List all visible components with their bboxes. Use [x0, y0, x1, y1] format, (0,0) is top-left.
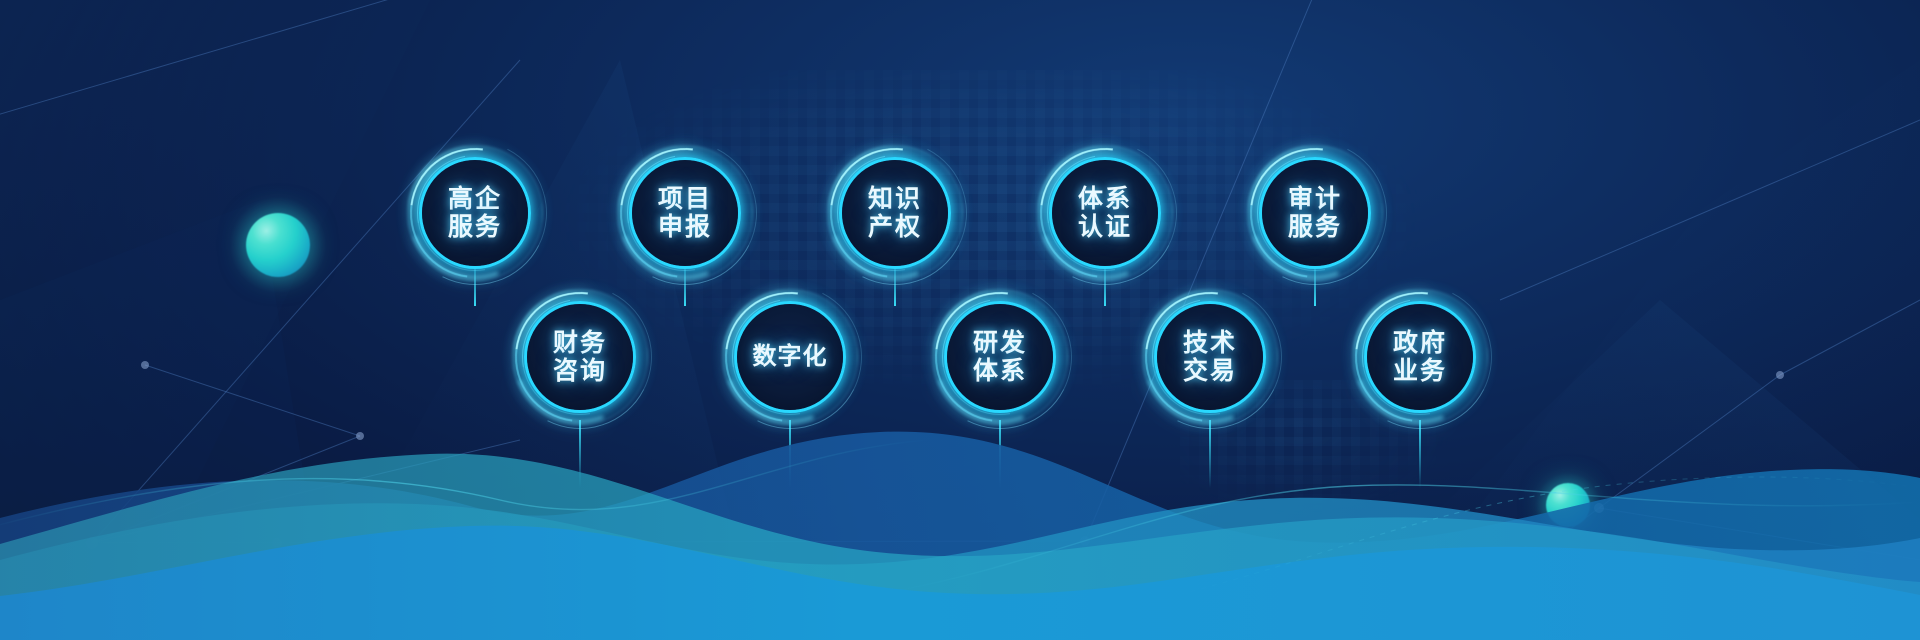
bubble-label-line2: 交易 [1183, 358, 1237, 385]
sphere-decoration-left [246, 213, 310, 277]
bubble-label: 高企 服务 [419, 157, 531, 269]
bubble-label: 研发 体系 [944, 301, 1056, 413]
bubble-label: 财务 咨询 [524, 301, 636, 413]
bubble-label: 数字化 [734, 301, 846, 413]
bubble-label: 审计 服务 [1259, 157, 1371, 269]
bubble-label-line1: 知识 [868, 186, 922, 213]
bubble-label-line1: 项目 [658, 186, 712, 213]
bubble-label-line1: 政府 [1393, 330, 1447, 357]
wave-decoration [0, 410, 1920, 640]
service-bubble-xiangmu-shenbao[interactable]: 项目 申报 [629, 157, 741, 269]
bubble-label-line1: 高企 [448, 186, 502, 213]
service-bubble-shuzihua[interactable]: 数字化 [734, 301, 846, 413]
bubble-label-line2: 业务 [1393, 358, 1447, 385]
bubble-label-line1: 财务 [553, 330, 607, 357]
bubble-label-line1: 审计 [1288, 186, 1342, 213]
service-bubble-zhishi-chanquan[interactable]: 知识 产权 [839, 157, 951, 269]
sphere-decoration-right [1546, 483, 1590, 527]
bubble-label-line2: 服务 [1288, 214, 1342, 241]
service-bubble-yanfa-tixi[interactable]: 研发 体系 [944, 301, 1056, 413]
bubble-label-line1: 体系 [1078, 186, 1132, 213]
bubble-label-line2: 产权 [868, 214, 922, 241]
bubble-label: 项目 申报 [629, 157, 741, 269]
bubble-label-line1: 技术 [1183, 330, 1237, 357]
service-bubble-shenji-fuwu[interactable]: 审计 服务 [1259, 157, 1371, 269]
bubble-label-line2: 申报 [658, 214, 712, 241]
service-bubble-gaoqi-fuwu[interactable]: 高企 服务 [419, 157, 531, 269]
bubble-label-line1: 数字化 [753, 344, 828, 370]
bubble-label: 知识 产权 [839, 157, 951, 269]
service-bubble-zhengfu-yewu[interactable]: 政府 业务 [1364, 301, 1476, 413]
bubble-label: 政府 业务 [1364, 301, 1476, 413]
banner-stage: 高企 服务 项目 申报 知识 产权 [0, 0, 1920, 640]
bubble-label-line2: 服务 [448, 214, 502, 241]
bubble-label-line2: 体系 [973, 358, 1027, 385]
bubble-label: 体系 认证 [1049, 157, 1161, 269]
bubble-label-line2: 咨询 [553, 358, 607, 385]
bubble-label-line2: 认证 [1078, 214, 1132, 241]
service-bubble-tixi-renzheng[interactable]: 体系 认证 [1049, 157, 1161, 269]
bubble-label: 技术 交易 [1154, 301, 1266, 413]
service-bubble-jishu-jiaoyi[interactable]: 技术 交易 [1154, 301, 1266, 413]
service-bubble-caiwu-zixun[interactable]: 财务 咨询 [524, 301, 636, 413]
bubble-label-line1: 研发 [973, 330, 1027, 357]
